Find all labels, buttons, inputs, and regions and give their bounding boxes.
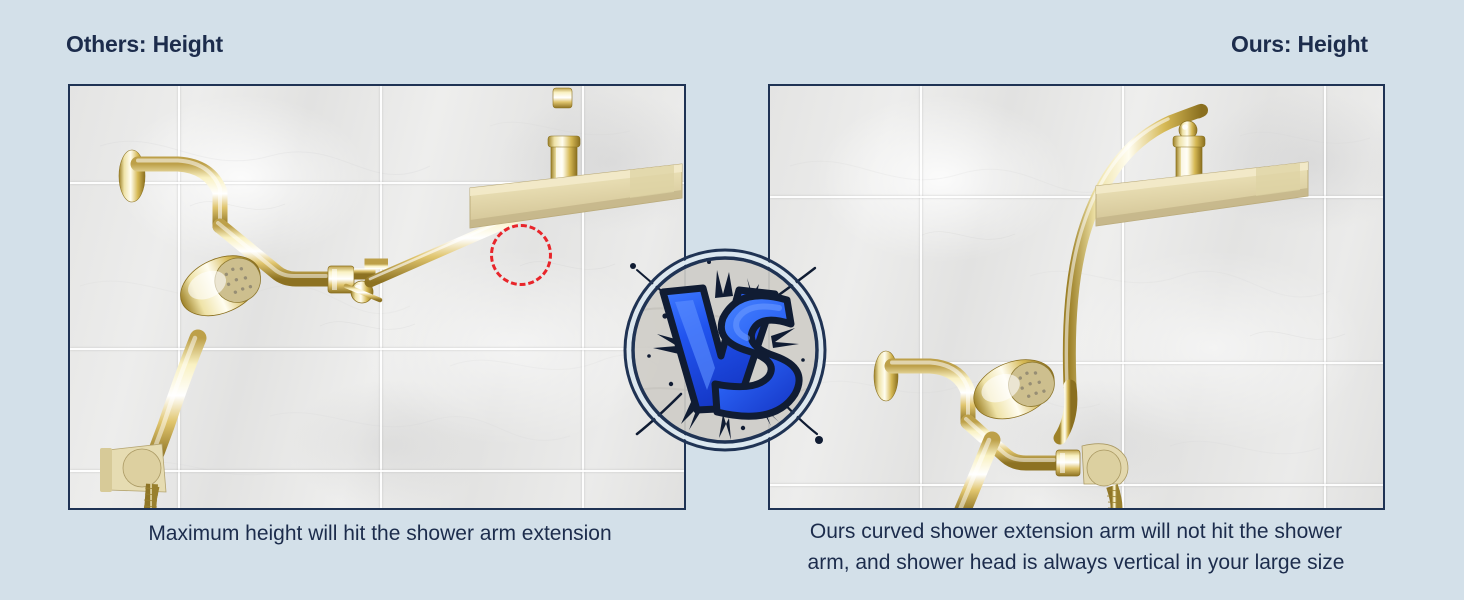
shower-fixture-curved-arm — [770, 86, 1385, 510]
right-panel-heading: Ours: Height — [1231, 31, 1368, 58]
right-photo-panel — [768, 84, 1385, 510]
vs-badge-icon — [619, 244, 831, 456]
left-photo-panel — [68, 84, 686, 510]
left-caption: Maximum height will hit the shower arm e… — [60, 518, 700, 549]
left-panel-heading: Others: Height — [66, 31, 223, 58]
shower-fixture-straight-arm — [70, 86, 686, 510]
red-dashed-circle-icon — [490, 224, 552, 286]
caption-line: Maximum height will hit the shower arm e… — [60, 518, 700, 549]
caption-line: arm, and shower head is always vertical … — [740, 547, 1412, 578]
right-caption: Ours curved shower extension arm will no… — [740, 516, 1412, 578]
caption-line: Ours curved shower extension arm will no… — [740, 516, 1412, 547]
comparison-infographic: Others: Height Ours: Height — [0, 0, 1464, 600]
